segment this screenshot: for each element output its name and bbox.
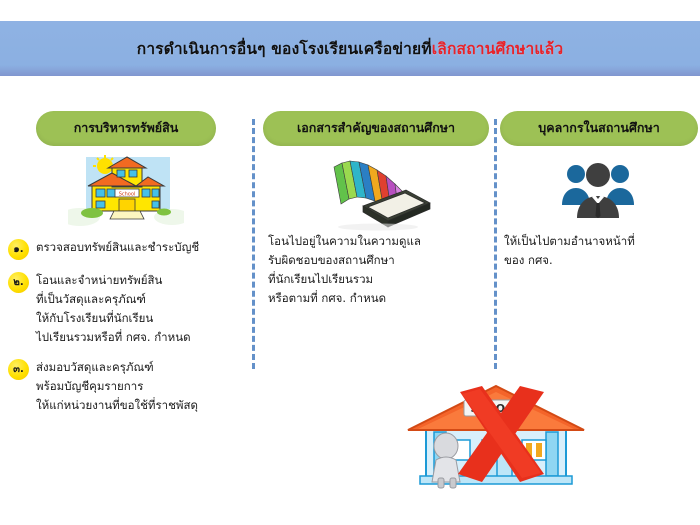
books-icon [316,151,436,231]
list-item-line: ที่เป็นวัสดุและครุภัณฑ์ [36,290,244,309]
column-2-heading: เอกสารสำคัญของสถานศึกษา [263,111,489,146]
paragraph-line: ของ กศจ. [504,251,696,270]
asset-management-list: ๑. ตรวจสอบทรัพย์สินและชำระบัญชี ๒. โอนแล… [8,238,244,415]
page-title: การดำเนินการอื่นๆ ของโรงเรียนเครือข่ายที… [137,36,563,61]
column-3-heading: บุคลากรในสถานศึกษา [500,111,698,146]
bullet-number: ๑. [8,239,29,260]
column-1-artwork: School [8,150,244,232]
paragraph-line: รับผิดชอบของสถานศึกษา [268,251,490,270]
column-divider-1 [252,119,255,369]
closed-school-icon: SCHOOL [398,378,594,490]
column-school-personnel: บุคลากรในสถานศึกษา ให้เป็นไปตามอำนาจหน้า… [500,105,696,270]
list-item-text: ตรวจสอบทรัพย์สินและชำระบัญชี [36,238,244,257]
paragraph-line: โอนไปอยู่ในความในความดูแล [268,232,490,251]
paragraph-line: ที่นักเรียนไปเรียนรวม [268,270,490,289]
column-asset-management: การบริหารทรัพย์สิน [8,105,244,426]
content-columns: การบริหารทรัพย์สิน [0,105,700,525]
list-item-line: ตรวจสอบทรัพย์สินและชำระบัญชี [36,238,244,257]
svg-text:School: School [119,192,136,198]
people-group-icon [561,160,635,222]
bullet-number: ๓. [8,359,29,380]
list-item-line: ให้กับโรงเรียนที่นักเรียน [36,309,244,328]
column-school-documents: เอกสารสำคัญของสถานศึกษา [262,105,490,308]
list-item-line: ให้แก่หน่วยงานที่ขอใช้ที่ราชพัสดุ [36,396,244,415]
list-item-line: ส่งมอบวัสดุและครุภัณฑ์ [36,358,244,377]
list-item-text: โอนและจำหน่ายทรัพย์สิน ที่เป็นวัสดุและคร… [36,271,244,347]
page-title-highlight: เลิกสถานศึกษาแล้ว [432,40,563,58]
list-item: ๓. ส่งมอบวัสดุและครุภัณฑ์ พร้อมบัญชีคุมร… [8,358,244,415]
page-title-main: การดำเนินการอื่นๆ ของโรงเรียนเครือข่ายที… [137,40,432,58]
paragraph-line: หรือตามที่ กศจ. กำหนด [268,289,490,308]
school-building-icon: School [68,155,184,227]
column-divider-2 [494,119,497,369]
list-item-text: ส่งมอบวัสดุและครุภัณฑ์ พร้อมบัญชีคุมรายก… [36,358,244,415]
list-item: ๒. โอนและจำหน่ายทรัพย์สิน ที่เป็นวัสดุแล… [8,271,244,347]
column-1-heading: การบริหารทรัพย์สิน [36,111,216,146]
column-2-artwork [262,150,490,232]
list-item-line: ไปเรียนรวมหรือที่ กศจ. กำหนด [36,328,244,347]
person-figure [432,433,460,488]
header-banner: การดำเนินการอื่นๆ ของโรงเรียนเครือข่ายที… [0,21,700,76]
list-item: ๑. ตรวจสอบทรัพย์สินและชำระบัญชี [8,238,244,260]
paragraph-line: ให้เป็นไปตามอำนาจหน้าที่ [504,232,696,251]
bullet-number: ๒. [8,272,29,293]
column-3-artwork [500,150,696,232]
list-item-line: โอนและจำหน่ายทรัพย์สิน [36,271,244,290]
list-item-line: พร้อมบัญชีคุมรายการ [36,377,244,396]
school-personnel-text: ให้เป็นไปตามอำนาจหน้าที่ ของ กศจ. [504,232,696,270]
school-documents-text: โอนไปอยู่ในความในความดูแล รับผิดชอบของสถ… [268,232,490,308]
